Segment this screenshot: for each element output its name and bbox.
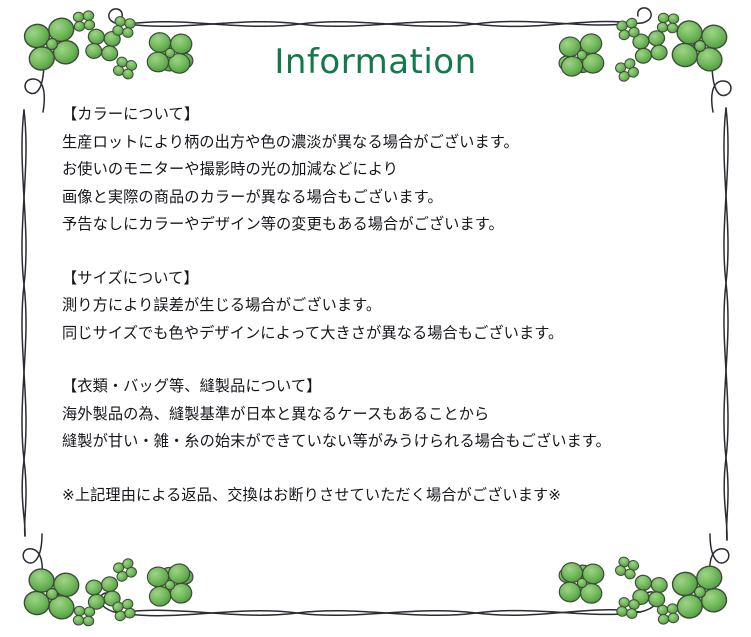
section-sewn-goods: 【衣類・バッグ等、縫製品について】 海外製品の為、縫製基準が日本と異なるケースも… (62, 373, 702, 456)
section-line: 海外製品の為、縫製基準が日本と異なるケースもあることから (62, 401, 702, 429)
section-size: 【サイズについて】 測り方により誤差が生じる場合がございます。 同じサイズでも色… (62, 265, 702, 348)
information-content: Information 【カラーについて】 生産ロットにより柄の出方や色の濃淡が… (0, 0, 751, 637)
section-line: 画像と実際の商品のカラーが異なる場合もございます。 (62, 184, 702, 212)
section-line: お使いのモニターや撮影時の光の加減などにより (62, 156, 702, 184)
information-body: 【カラーについて】 生産ロットにより柄の出方や色の濃淡が異なる場合がございます。… (62, 101, 702, 509)
section-footer-note: ※上記理由による返品、交換はお断りさせていただく場合がございます※ (62, 482, 702, 510)
section-heading: 【サイズについて】 (62, 265, 702, 293)
section-line: 予告なしにカラーやデザイン等の変更もある場合がございます。 (62, 211, 702, 239)
section-line: 測り方により誤差が生じる場合がございます。 (62, 292, 702, 320)
page-title: Information (0, 41, 751, 83)
section-color: 【カラーについて】 生産ロットにより柄の出方や色の濃淡が異なる場合がございます。… (62, 101, 702, 239)
section-line: 縫製が甘い・雑・糸の始末ができていない等がみうけられる場合もございます。 (62, 428, 702, 456)
information-panel: Information 【カラーについて】 生産ロットにより柄の出方や色の濃淡が… (0, 0, 751, 637)
section-heading: 【衣類・バッグ等、縫製品について】 (62, 373, 702, 401)
section-heading: 【カラーについて】 (62, 101, 702, 129)
footer-note: ※上記理由による返品、交換はお断りさせていただく場合がございます※ (62, 482, 702, 510)
section-line: 同じサイズでも色やデザインによって大きさが異なる場合もございます。 (62, 320, 702, 348)
section-line: 生産ロットにより柄の出方や色の濃淡が異なる場合がございます。 (62, 129, 702, 157)
